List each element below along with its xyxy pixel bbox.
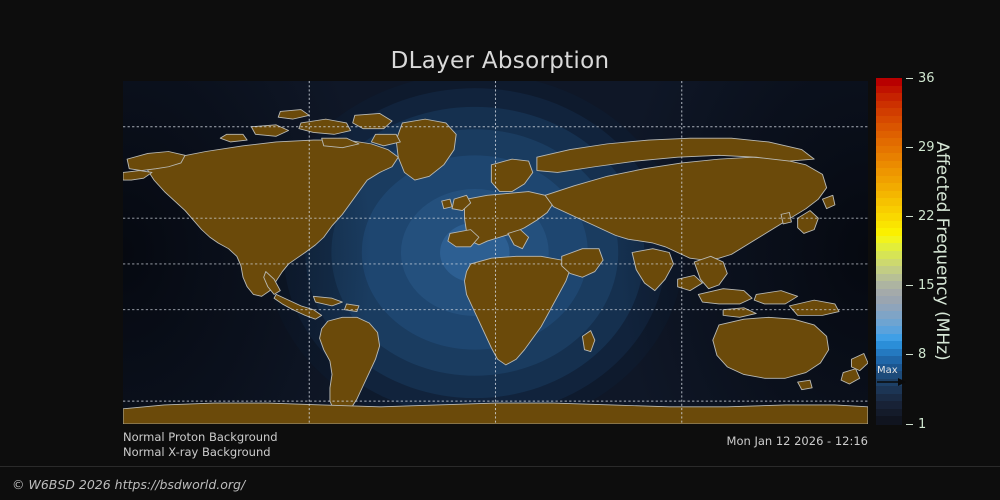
tick-dash — [906, 424, 913, 425]
status-messages: Normal Proton Background Normal X-ray Ba… — [123, 430, 278, 460]
colorbar-gradient — [876, 78, 902, 424]
tick-label: 1 — [918, 418, 926, 431]
page-title: DLayer Absorption — [0, 48, 1000, 74]
tick-dash — [906, 78, 913, 79]
timestamp: Mon Jan 12 2026 - 12:16 — [540, 434, 868, 448]
colorbar-axis-label: Affected Frequency (MHz) — [930, 78, 954, 424]
tick-dash — [906, 216, 913, 217]
dlayer-absorption-screen: DLayer Absorption — [0, 0, 1000, 500]
footer-copyright: © W6BSD 2026 https://bsdworld.org/ — [12, 477, 245, 492]
tick-dash — [906, 354, 913, 355]
xray-status: Normal X-ray Background — [123, 445, 278, 460]
proton-status: Normal Proton Background — [123, 430, 278, 445]
map-canvas — [123, 81, 868, 424]
world-map[interactable] — [123, 81, 868, 424]
footer-divider — [0, 466, 1000, 467]
tick-dash — [906, 147, 913, 148]
colorbar: 3629221581 — [876, 78, 902, 424]
tick-label: 8 — [918, 348, 926, 361]
colorbar-band — [876, 416, 902, 424]
tick-dash — [906, 285, 913, 286]
